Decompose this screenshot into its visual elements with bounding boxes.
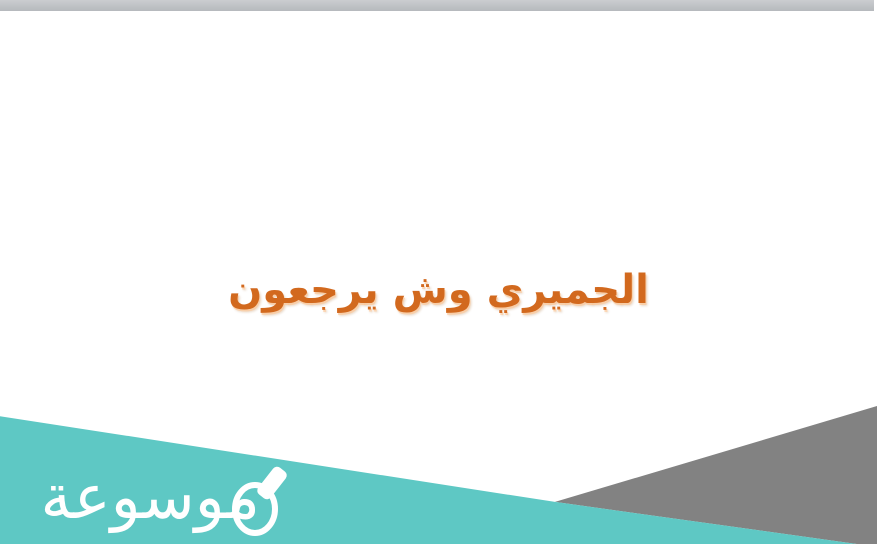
slide-canvas: الجميري وش يرجعون موسوعة: [0, 0, 877, 544]
slide-body: الجميري وش يرجعون موسوعة: [0, 11, 877, 544]
brand-wordmark: موسوعة: [41, 466, 260, 528]
brand-logo: موسوعة: [12, 462, 302, 542]
page-title: الجميري وش يرجعون: [0, 263, 877, 317]
top-chrome-bar: [0, 0, 874, 11]
